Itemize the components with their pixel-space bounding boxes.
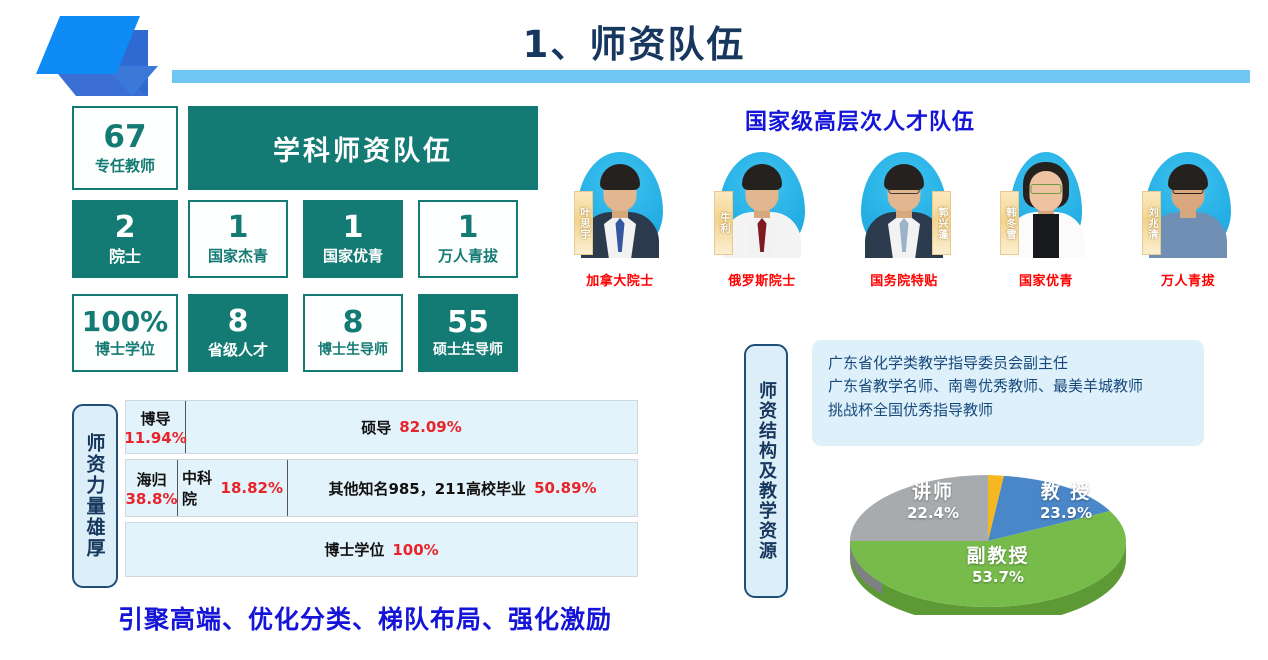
header-divider <box>172 70 1250 83</box>
stat-value: 1 <box>343 213 364 243</box>
structure-vertical-label-text: 师资结构及教学资源 <box>753 381 779 561</box>
avatar-inner-top <box>1033 214 1059 258</box>
name-tag: 郭兴蓬 <box>932 191 951 255</box>
name-tag: 牛利 <box>714 191 733 255</box>
name-tag: 叶思宇 <box>574 191 593 255</box>
footer-slogan: 引聚高端、优化分类、梯队布局、强化激励 <box>0 600 730 636</box>
person-caption: 国务院特贴 <box>854 270 954 289</box>
table-row: 海归 38.8% 中科院 18.82% 其他知名985，211高校毕业 50.8… <box>125 459 638 517</box>
cell-name: 博导 <box>140 408 170 429</box>
pie-label-professor: 教 授 23.9% <box>1006 477 1126 522</box>
list-item: 刘兆清 万人青拔 <box>1138 148 1238 289</box>
table-cell: 硕导 82.09% <box>186 401 637 453</box>
stat-cell-phd-degree: 100% 博士学位 <box>72 294 178 372</box>
name-tag: 韩冬雪 <box>1000 191 1019 255</box>
list-item: 牛利 俄罗斯院士 <box>712 148 812 289</box>
stat-value: 8 <box>343 308 364 338</box>
cell-name: 博士学位 <box>324 539 384 560</box>
stat-value: 8 <box>228 307 249 337</box>
slide-root: 1、师资队伍 67 专任教师 学科师资队伍 2 院士 1 国家杰青 1 国家优青… <box>0 0 1268 660</box>
faculty-banner: 学科师资队伍 <box>188 106 538 190</box>
cell-pct: 100% <box>392 541 438 559</box>
stat-cell-master-supervisor: 55 硕士生导师 <box>418 294 518 372</box>
pie-label-assoc-professor: 副教授 53.7% <box>933 541 1063 586</box>
talent-photo-row: 叶思宇 加拿大院士 牛利 俄罗斯院士 <box>560 148 1260 308</box>
list-item: 郭兴蓬 国务院特贴 <box>854 148 954 289</box>
table-row: 博士学位 100% <box>125 522 638 577</box>
stat-cell-wanren-qingba: 1 万人青拔 <box>418 200 518 278</box>
table-row: 博导 11.94% 硕导 82.09% <box>125 400 638 454</box>
stat-label: 省级人才 <box>208 342 268 359</box>
avatar: 牛利 <box>712 148 812 258</box>
cell-name: 硕导 <box>361 417 391 438</box>
stat-label: 国家优青 <box>323 248 383 265</box>
stat-cell-national-jieqing: 1 国家杰青 <box>188 200 288 278</box>
stat-label: 硕士生导师 <box>433 343 503 358</box>
stat-label: 国家杰青 <box>208 248 268 265</box>
stat-cell-teachers: 67 专任教师 <box>72 106 178 190</box>
structure-info-panel: 广东省化学类教学指导委员会副主任 广东省教学名师、南粤优秀教师、最美羊城教师 挑… <box>812 340 1204 446</box>
stat-label: 万人青拔 <box>438 248 498 265</box>
pie-label-value: 22.4% <box>878 504 988 522</box>
avatar: 郭兴蓬 <box>854 148 954 258</box>
faculty-rank-pie-chart: 讲师 22.4% 教 授 23.9% 副教授 53.7% <box>838 455 1138 615</box>
avatar: 刘兆清 <box>1138 148 1238 258</box>
stat-value: 67 <box>103 122 146 153</box>
person-caption: 俄罗斯院士 <box>712 270 812 289</box>
cell-name: 海归 <box>136 469 166 490</box>
cell-pct: 38.8% <box>125 490 177 508</box>
person-name: 郭兴蓬 <box>934 207 949 240</box>
list-item: 韩冬雪 国家优青 <box>996 148 1096 289</box>
stat-cell-national-youqing: 1 国家优青 <box>303 200 403 278</box>
cell-pct: 50.89% <box>534 479 596 497</box>
glasses-icon <box>1031 184 1062 194</box>
avatar: 韩冬雪 <box>996 148 1096 258</box>
table-cell: 博士学位 100% <box>126 523 637 576</box>
faculty-stat-grid: 67 专任教师 学科师资队伍 2 院士 1 国家杰青 1 国家优青 1 万人青拔… <box>72 106 538 376</box>
info-line: 挑战杯全国优秀指导教师 <box>828 399 1188 422</box>
cell-pct: 18.82% <box>221 479 283 497</box>
person-name: 叶思宇 <box>576 207 591 240</box>
structure-vertical-label: 师资结构及教学资源 <box>744 344 788 598</box>
cell-name: 其他知名985，211高校毕业 <box>328 478 526 499</box>
person-caption: 国家优青 <box>996 270 1096 289</box>
info-line: 广东省教学名师、南粤优秀教师、最美羊城教师 <box>828 375 1188 398</box>
pie-label-value: 53.7% <box>933 568 1063 586</box>
list-item: 叶思宇 加拿大院士 <box>570 148 670 289</box>
cell-pct: 82.09% <box>399 418 461 436</box>
table-cell: 海归 38.8% <box>126 460 178 516</box>
stat-cell-provincial-talent: 8 省级人才 <box>188 294 288 372</box>
person-caption: 加拿大院士 <box>570 270 670 289</box>
page-title: 1、师资队伍 <box>0 14 1268 68</box>
cell-pct: 11.94% <box>124 429 186 447</box>
stat-cell-phd-supervisor: 8 博士生导师 <box>303 294 403 372</box>
cell-name: 中科院 <box>182 467 213 509</box>
stat-value: 2 <box>115 213 136 243</box>
info-line: 广东省化学类教学指导委员会副主任 <box>828 352 1188 375</box>
stat-label: 博士生导师 <box>318 343 388 358</box>
stat-cell-academician: 2 院士 <box>72 200 178 278</box>
strength-vertical-label: 师资力量雄厚 <box>72 404 118 588</box>
table-cell: 其他知名985，211高校毕业 50.89% <box>288 460 637 516</box>
pie-label-name: 副教授 <box>933 541 1063 568</box>
strength-vertical-label-text: 师资力量雄厚 <box>82 433 109 559</box>
pie-label-name: 讲师 <box>878 477 988 504</box>
person-name: 刘兆清 <box>1144 207 1159 240</box>
stat-value: 1 <box>228 213 249 243</box>
avatar: 叶思宇 <box>570 148 670 258</box>
pie-label-name: 教 授 <box>1006 477 1126 504</box>
talent-section-title: 国家级高层次人才队伍 <box>745 104 975 136</box>
stat-value: 1 <box>458 213 479 243</box>
pie-label-lecturer: 讲师 22.4% <box>878 477 988 522</box>
stat-label: 院士 <box>109 248 141 266</box>
stat-value: 100% <box>82 308 169 336</box>
table-cell: 博导 11.94% <box>126 401 186 453</box>
person-caption: 万人青拔 <box>1138 270 1238 289</box>
stat-label: 专任教师 <box>95 158 155 175</box>
person-name: 韩冬雪 <box>1002 207 1017 240</box>
pie-label-value: 23.9% <box>1006 504 1126 522</box>
strength-table: 博导 11.94% 硕导 82.09% 海归 38.8% 中科院 18.82% … <box>125 400 638 582</box>
table-cell: 中科院 18.82% <box>178 460 288 516</box>
stat-value: 55 <box>447 308 489 338</box>
person-name: 牛利 <box>716 212 731 234</box>
stat-label: 博士学位 <box>95 341 155 358</box>
name-tag: 刘兆清 <box>1142 191 1161 255</box>
